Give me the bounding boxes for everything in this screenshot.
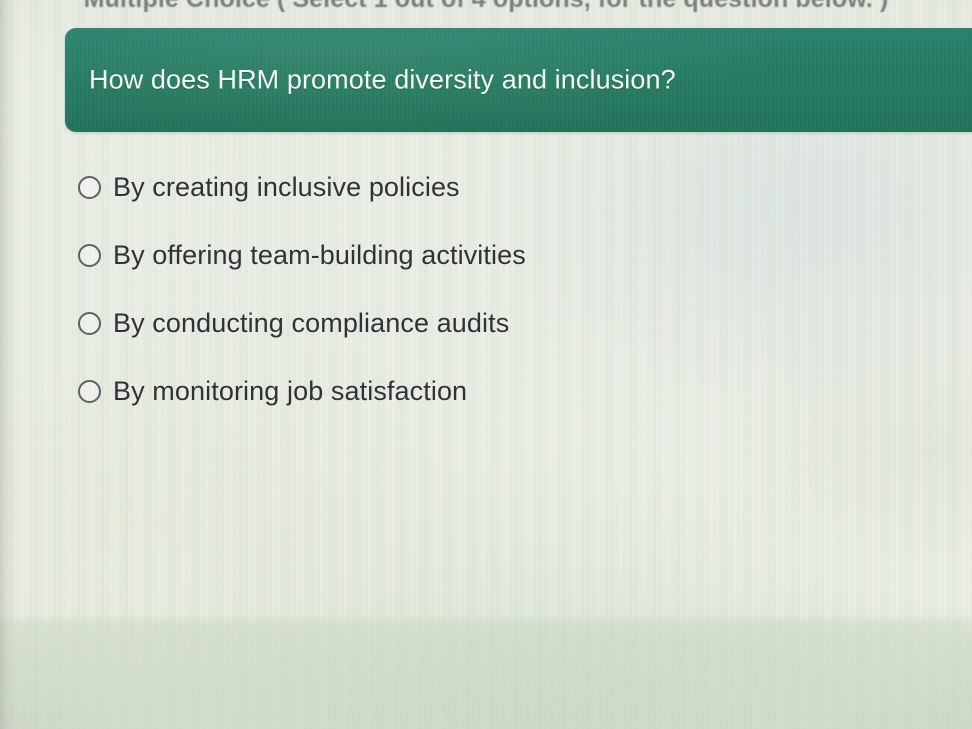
question-banner: How does HRM promote diversity and inclu… [65, 28, 972, 132]
question-text: How does HRM promote diversity and inclu… [89, 65, 676, 96]
radio-button-b-icon[interactable] [78, 244, 101, 267]
option-label-a[interactable]: By creating inclusive policies [113, 172, 460, 203]
option-row-b[interactable]: By offering team-building activities [78, 232, 932, 278]
option-row-d[interactable]: By monitoring job satisfaction [78, 368, 932, 414]
quiz-screen: Multiple Choice ( Select 1 out of 4 opti… [0, 0, 972, 729]
option-row-c[interactable]: By conducting compliance audits [78, 300, 932, 346]
option-label-c[interactable]: By conducting compliance audits [113, 308, 509, 339]
instruction-text: Multiple Choice ( Select 1 out of 4 opti… [0, 0, 972, 15]
answer-options-list: By creating inclusive policies By offeri… [78, 164, 932, 436]
option-label-d[interactable]: By monitoring job satisfaction [113, 376, 467, 407]
option-row-a[interactable]: By creating inclusive policies [78, 164, 932, 210]
option-label-b[interactable]: By offering team-building activities [113, 240, 526, 271]
radio-button-d-icon[interactable] [78, 380, 101, 403]
radio-button-c-icon[interactable] [78, 312, 101, 335]
radio-button-a-icon[interactable] [78, 176, 101, 199]
